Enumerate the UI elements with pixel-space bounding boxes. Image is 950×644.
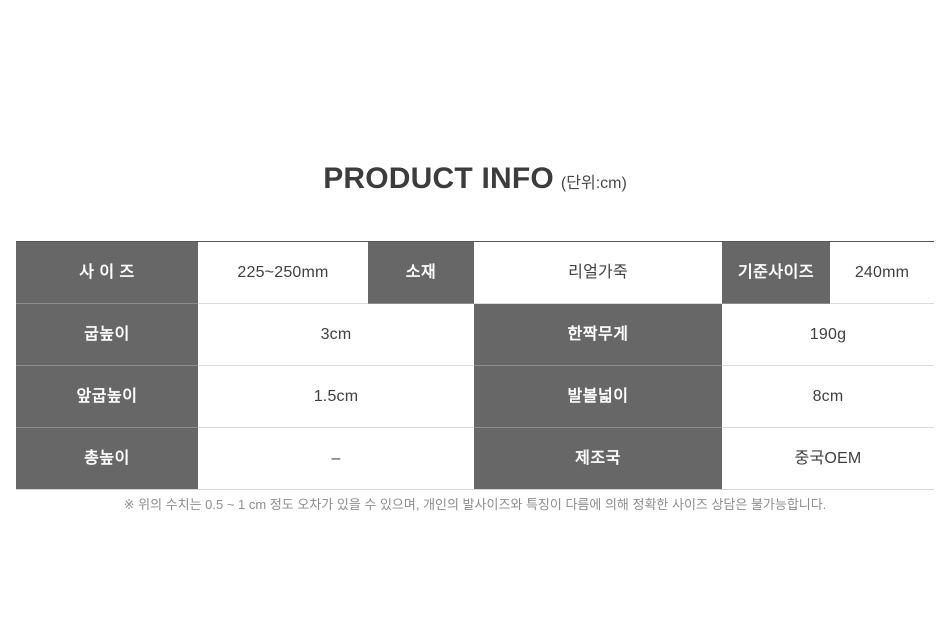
- product-info-page: PRODUCT INFO(단위:cm) 사 이 즈 225~250mm 소재 리…: [0, 0, 950, 644]
- spec-value-standard-size: 240mm: [830, 242, 934, 304]
- spec-value-country-of-manufacture: 중국OEM: [722, 428, 934, 490]
- table-row: 굽높이 3cm 한짝무게 190g: [16, 304, 934, 366]
- spec-value-foot-width: 8cm: [722, 366, 934, 428]
- table-row: 사 이 즈 225~250mm 소재 리얼가죽 기준사이즈 240mm: [16, 242, 934, 304]
- spec-label-standard-size: 기준사이즈: [722, 242, 830, 304]
- spec-label-front-heel-height: 앞굽높이: [16, 366, 198, 428]
- product-spec-table: 사 이 즈 225~250mm 소재 리얼가죽 기준사이즈 240mm 굽높이 …: [16, 241, 934, 490]
- table-row: 총높이 – 제조국 중국OEM: [16, 428, 934, 490]
- spec-value-heel-height: 3cm: [198, 304, 474, 366]
- page-title-main: PRODUCT INFO: [323, 162, 554, 195]
- size-disclaimer-note: ※ 위의 수치는 0.5 ~ 1 cm 정도 오차가 있을 수 있으며, 개인의…: [0, 494, 950, 513]
- spec-label-single-weight: 한짝무게: [474, 304, 722, 366]
- spec-label-country-of-manufacture: 제조국: [474, 428, 722, 490]
- spec-label-heel-height: 굽높이: [16, 304, 198, 366]
- table-row: 앞굽높이 1.5cm 발볼넓이 8cm: [16, 366, 934, 428]
- spec-value-single-weight: 190g: [722, 304, 934, 366]
- page-title-unit-note: (단위:cm): [561, 175, 627, 192]
- spec-value-total-height: –: [198, 428, 474, 490]
- spec-label-foot-width: 발볼넓이: [474, 366, 722, 428]
- spec-value-material: 리얼가죽: [474, 242, 722, 304]
- spec-value-size: 225~250mm: [198, 242, 368, 304]
- spec-label-material: 소재: [368, 242, 474, 304]
- spec-label-size: 사 이 즈: [16, 242, 198, 304]
- spec-label-total-height: 총높이: [16, 428, 198, 490]
- page-title: PRODUCT INFO(단위:cm): [0, 162, 950, 196]
- spec-value-front-heel-height: 1.5cm: [198, 366, 474, 428]
